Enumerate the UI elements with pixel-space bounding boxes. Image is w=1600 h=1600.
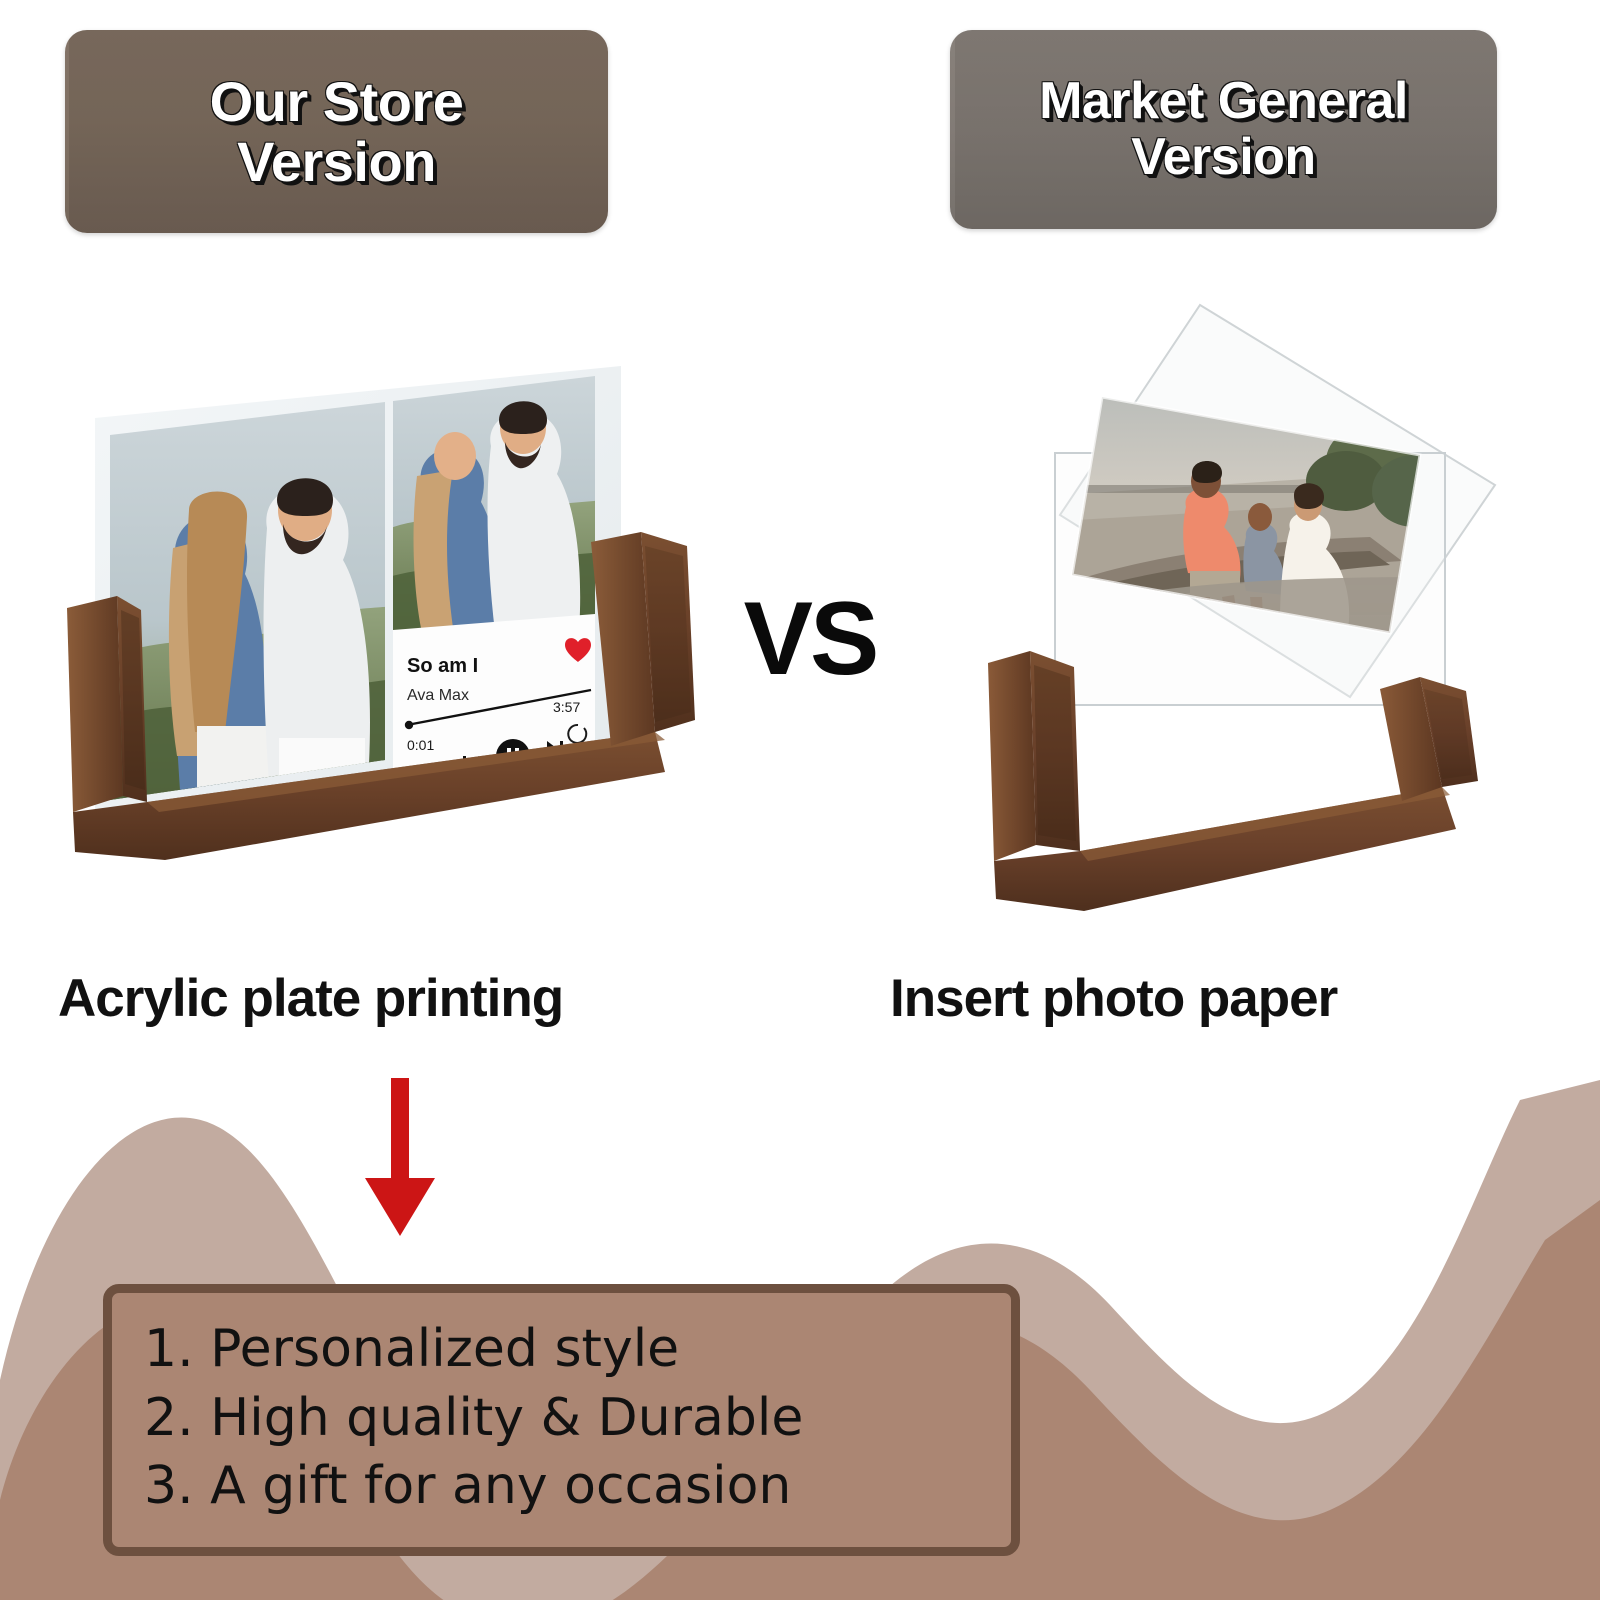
music-total-time: 3:57 [553,699,580,715]
caption-insert-photo-paper: Insert photo paper [890,968,1337,1029]
infographic-canvas: Our Store Version Market General Version [0,0,1600,1600]
banner-right-label: Market General Version [1039,74,1408,185]
music-elapsed-time: 0:01 [407,737,434,753]
banner-market-general-version: Market General Version [950,30,1497,229]
benefits-box: 1. Personalized style 2. High quality & … [103,1284,1020,1556]
music-progress-knob[interactable] [405,721,413,729]
benefit-item-2: 2. High quality & Durable [144,1384,1011,1453]
product-image-acrylic-frame: So am I Ava Max 0:01 3:57 [55,360,715,890]
music-track-title: So am I [407,655,478,677]
banner-our-store-version: Our Store Version [65,30,608,233]
product-image-photo-paper-frame [950,285,1530,945]
photo-paper-frame-illustration [950,285,1530,945]
vs-label: VS [720,580,900,699]
down-arrow-icon [355,1078,445,1238]
wood-stand2-left-arm [988,651,1036,861]
benefit-item-1: 1. Personalized style [144,1315,1011,1384]
caption-acrylic-plate-printing: Acrylic plate printing [58,968,563,1029]
banner-left-label: Our Store Version [210,72,464,192]
acrylic-frame-illustration: So am I Ava Max 0:01 3:57 [55,360,715,890]
benefit-item-3: 3. A gift for any occasion [144,1452,1011,1521]
photo-couple-left [105,395,400,810]
photo-couple-right [385,370,605,650]
wood-stand-left-arm [67,596,123,812]
music-artist-name: Ava Max [407,687,469,704]
